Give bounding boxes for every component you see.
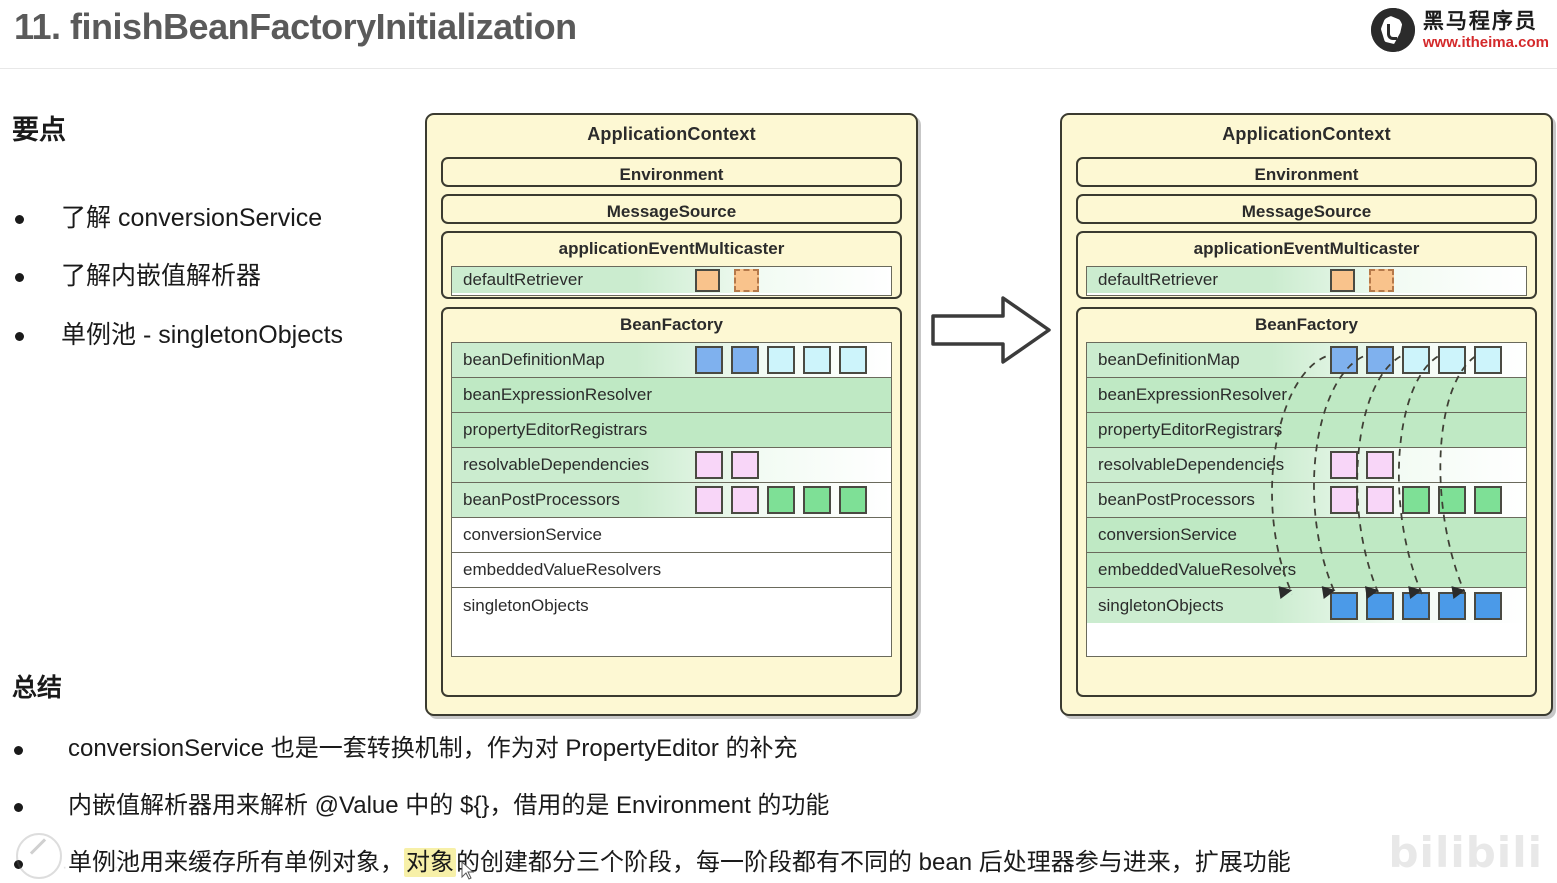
bean-factory-row: beanDefinitionMap	[1087, 343, 1526, 378]
bean-factory-rows: beanDefinitionMapbeanExpressionResolverp…	[451, 342, 892, 657]
chip-pink	[731, 451, 759, 479]
chip-pink	[1366, 486, 1394, 514]
row-label: beanDefinitionMap	[1087, 350, 1240, 370]
row-label: conversionService	[1087, 525, 1237, 545]
row-chips	[1330, 448, 1394, 482]
chip-pink	[695, 451, 723, 479]
bean-factory-row: embeddedValueResolvers	[452, 553, 891, 588]
row-label: propertyEditorRegistrars	[1087, 420, 1282, 440]
row-label: beanExpressionResolver	[452, 385, 652, 405]
environment-box: Environment	[441, 157, 902, 187]
bean-factory-row: beanExpressionResolver	[452, 378, 891, 413]
row-label: propertyEditorRegistrars	[452, 420, 647, 440]
bean-factory-row: defaultRetriever	[1087, 267, 1526, 293]
chip-pink	[1330, 486, 1358, 514]
chip-pink	[1330, 451, 1358, 479]
event-multicaster-rows: defaultRetriever	[1086, 266, 1527, 296]
bean-factory-rows: beanDefinitionMapbeanExpressionResolverp…	[1086, 342, 1527, 657]
diagram-panel-after: ApplicationContext Environment MessageSo…	[1060, 113, 1553, 716]
row-chips	[695, 483, 867, 517]
summary-post: 的创建都分三个阶段，每一阶段都有不同的 bean 后处理器参与进来，扩展功能	[456, 849, 1291, 876]
chip-cyan	[1474, 346, 1502, 374]
transform-arrow-icon	[931, 294, 1051, 366]
chip-orange-dashed	[1369, 269, 1394, 292]
row-label: embeddedValueResolvers	[452, 560, 661, 580]
row-label: beanExpressionResolver	[1087, 385, 1287, 405]
row-chips	[695, 267, 759, 293]
brand-url: www.itheima.com	[1423, 35, 1549, 50]
chip-cyan	[839, 346, 867, 374]
chip-green	[1474, 486, 1502, 514]
row-label: defaultRetriever	[452, 270, 583, 290]
message-source-box: MessageSource	[441, 194, 902, 224]
chip-orange	[695, 269, 720, 292]
chip-pink	[695, 486, 723, 514]
row-chips	[1330, 483, 1502, 517]
horse-logo-icon	[1371, 8, 1415, 52]
environment-label: Environment	[1078, 159, 1535, 183]
chip-green	[767, 486, 795, 514]
summary-label: conversionService 也是一套转换机制，作为对 PropertyE…	[68, 735, 798, 764]
chip-pink	[731, 486, 759, 514]
application-context-title: ApplicationContext	[427, 124, 916, 145]
chip-pink	[1366, 451, 1394, 479]
row-label: beanPostProcessors	[452, 490, 620, 510]
chip-blue	[731, 346, 759, 374]
bullet-dot-icon	[14, 746, 23, 755]
bean-factory-row: resolvableDependencies	[1087, 448, 1526, 483]
bean-factory-label: BeanFactory	[1078, 309, 1535, 333]
chip-cyan	[803, 346, 831, 374]
bean-factory-row: embeddedValueResolvers	[1087, 553, 1526, 588]
chip-blue-solid	[1438, 592, 1466, 620]
bean-factory-row: beanExpressionResolver	[1087, 378, 1526, 413]
bullet-dot-icon	[15, 273, 24, 282]
key-point-label: 单例池 - singletonObjects	[61, 320, 343, 350]
environment-label: Environment	[443, 159, 900, 183]
chip-blue-solid	[1366, 592, 1394, 620]
row-label: beanPostProcessors	[1087, 490, 1255, 510]
row-label: resolvableDependencies	[452, 455, 649, 475]
bean-factory-box: BeanFactory beanDefinitionMapbeanExpress…	[441, 307, 902, 697]
key-point-item: 了解内嵌值解析器	[15, 261, 261, 291]
application-context-title: ApplicationContext	[1062, 124, 1551, 145]
summary-label: 内嵌值解析器用来解析 @Value 中的 ${}，借用的是 Environmen…	[68, 792, 829, 821]
bullet-dot-icon	[14, 803, 23, 812]
bean-factory-box: BeanFactory beanDefinitionMapbeanExpress…	[1076, 307, 1537, 697]
bean-factory-row: defaultRetriever	[452, 267, 891, 293]
chip-blue-solid	[1474, 592, 1502, 620]
brand-logo: 黑马程序员 www.itheima.com	[1371, 4, 1549, 56]
bean-factory-row: beanPostProcessors	[1087, 483, 1526, 518]
key-point-item: 单例池 - singletonObjects	[15, 320, 343, 350]
row-label: conversionService	[452, 525, 602, 545]
summary-heading: 总结	[12, 668, 62, 704]
chip-orange	[1330, 269, 1355, 292]
row-label: resolvableDependencies	[1087, 455, 1284, 475]
bean-factory-row: conversionService	[452, 518, 891, 553]
row-label: defaultRetriever	[1087, 270, 1218, 290]
bean-factory-label: BeanFactory	[443, 309, 900, 333]
chip-green	[1438, 486, 1466, 514]
bean-factory-row: singletonObjects	[452, 588, 891, 623]
bean-factory-row: singletonObjects	[1087, 588, 1526, 623]
chip-green	[803, 486, 831, 514]
row-chips	[1330, 343, 1502, 377]
key-point-label: 了解 conversionService	[61, 203, 322, 233]
summary-highlighted: 对象	[404, 848, 456, 877]
bean-factory-row: resolvableDependencies	[452, 448, 891, 483]
row-label: embeddedValueResolvers	[1087, 560, 1296, 580]
chip-blue-solid	[1402, 592, 1430, 620]
bean-factory-row: beanPostProcessors	[452, 483, 891, 518]
bilibili-watermark: bilibili	[1388, 828, 1543, 877]
chip-blue	[695, 346, 723, 374]
mouse-cursor	[461, 861, 475, 881]
chip-green	[839, 486, 867, 514]
event-multicaster-box: applicationEventMulticaster defaultRetri…	[1076, 231, 1537, 299]
brand-name: 黑马程序员	[1423, 11, 1549, 32]
message-source-label: MessageSource	[1078, 196, 1535, 220]
summary-item: 单例池用来缓存所有单例对象，对象的创建都分三个阶段，每一阶段都有不同的 bean…	[14, 849, 1291, 878]
row-chips	[1330, 588, 1502, 623]
brand-text: 黑马程序员 www.itheima.com	[1423, 11, 1549, 50]
pen-icon[interactable]	[16, 833, 62, 879]
key-points-heading: 要点	[12, 108, 66, 147]
chip-orange-dashed	[734, 269, 759, 292]
toolbar-ghost: · · ·	[62, 859, 127, 877]
row-chips	[695, 343, 867, 377]
row-chips	[1330, 267, 1394, 293]
row-label: singletonObjects	[452, 596, 589, 616]
bean-factory-row: beanDefinitionMap	[452, 343, 891, 378]
key-point-label: 了解内嵌值解析器	[61, 261, 261, 291]
chip-cyan	[1402, 346, 1430, 374]
chip-blue	[1330, 346, 1358, 374]
chip-cyan	[767, 346, 795, 374]
message-source-label: MessageSource	[443, 196, 900, 220]
bullet-dot-icon	[15, 332, 24, 341]
event-multicaster-label: applicationEventMulticaster	[1078, 233, 1535, 257]
environment-box: Environment	[1076, 157, 1537, 187]
row-chips	[695, 448, 759, 482]
chip-blue-solid	[1330, 592, 1358, 620]
event-multicaster-rows: defaultRetriever	[451, 266, 892, 296]
summary-item: conversionService 也是一套转换机制，作为对 PropertyE…	[14, 735, 798, 764]
diagram-panel-before: ApplicationContext Environment MessageSo…	[425, 113, 918, 716]
page-header: 11. finishBeanFactoryInitialization 黑马程序…	[0, 0, 1557, 69]
summary-item: 内嵌值解析器用来解析 @Value 中的 ${}，借用的是 Environmen…	[14, 792, 829, 821]
row-label: singletonObjects	[1087, 596, 1224, 616]
chip-green	[1402, 486, 1430, 514]
bean-factory-row: propertyEditorRegistrars	[452, 413, 891, 448]
bean-factory-row: propertyEditorRegistrars	[1087, 413, 1526, 448]
bullet-dot-icon	[15, 215, 24, 224]
event-multicaster-box: applicationEventMulticaster defaultRetri…	[441, 231, 902, 299]
bean-factory-row: conversionService	[1087, 518, 1526, 553]
chip-blue	[1366, 346, 1394, 374]
key-point-item: 了解 conversionService	[15, 203, 322, 233]
summary-label-parts: 单例池用来缓存所有单例对象，对象的创建都分三个阶段，每一阶段都有不同的 bean…	[68, 849, 1291, 878]
row-label: beanDefinitionMap	[452, 350, 605, 370]
chip-cyan	[1438, 346, 1466, 374]
event-multicaster-label: applicationEventMulticaster	[443, 233, 900, 257]
page-title: 11. finishBeanFactoryInitialization	[14, 6, 577, 48]
message-source-box: MessageSource	[1076, 194, 1537, 224]
